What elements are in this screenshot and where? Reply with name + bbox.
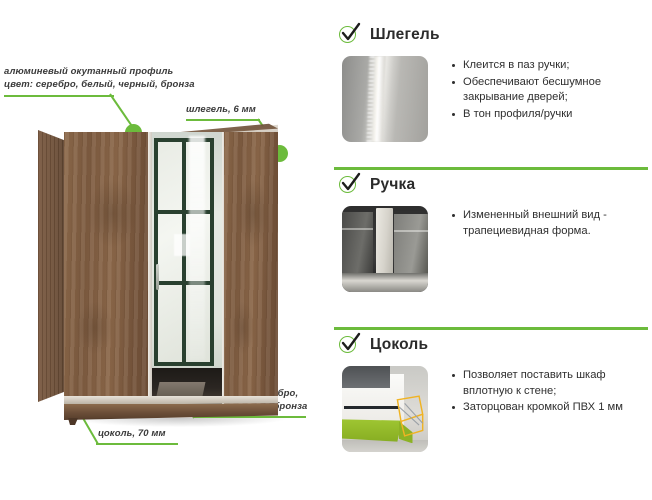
- handle-photo: [342, 206, 428, 292]
- mirror-rug-reflection: [157, 382, 206, 396]
- wardrobe-door-right: [224, 132, 278, 404]
- feature-title-ruchka: Ручка: [370, 176, 415, 194]
- check-circle-icon: [338, 24, 360, 46]
- annotation-plinth: цоколь, 70 мм: [98, 428, 166, 441]
- wardrobe-door-gap-left: [148, 132, 152, 404]
- feature-section-ruchka: Ручка Измененный внешний вид - трапециев…: [330, 172, 652, 322]
- plinth-callout-outline: [392, 392, 428, 442]
- shlegel-brush-strip: [370, 56, 386, 142]
- feature-body-ruchka: Измененный внешний вид - трапециевидная …: [330, 206, 652, 292]
- check-circle-icon: [338, 334, 360, 356]
- feature-bullets-shlegel: Клеится в паз ручки; Обеспечивают бесшум…: [450, 56, 652, 142]
- wardrobe-door-left: [64, 132, 152, 404]
- feature-bullets-tsokol: Позволяет поставить шкаф вплотную к стен…: [450, 366, 652, 452]
- feature-body-tsokol: Позволяет поставить шкаф вплотную к стен…: [330, 366, 652, 452]
- annotation-shlegel-line1: шлегель, 6 мм: [186, 104, 256, 117]
- feature-section-tsokol: Цоколь: [330, 332, 652, 482]
- annotation-profile-line1: алюминевый окутанный профиль: [4, 66, 195, 79]
- plinth-photo: [342, 366, 428, 452]
- feature-body-shlegel: Клеится в паз ручки; Обеспечивают бесшум…: [330, 56, 652, 142]
- feature-title-tsokol: Цоколь: [370, 336, 428, 354]
- feature-header-tsokol: Цоколь: [330, 332, 652, 358]
- wardrobe-front: [64, 132, 278, 404]
- wardrobe-mirror-door: [152, 132, 224, 404]
- annotation-profile-rule: [4, 95, 114, 97]
- feature-list-column: Шлегель Клеится в паз ручки; Обеспечиваю…: [330, 0, 652, 500]
- section-divider-2: [334, 327, 648, 330]
- annotation-shlegel: шлегель, 6 мм: [186, 104, 256, 117]
- list-item: Измененный внешний вид - трапециевидная …: [463, 208, 652, 239]
- infographic-page: алюминевый окутанный профиль цвет: сереб…: [0, 0, 652, 500]
- mirror-reflection-box: [174, 234, 190, 256]
- wardrobe-illustration-column: алюминевый окутанный профиль цвет: сереб…: [0, 0, 330, 500]
- mirror-gloss-highlight: [189, 136, 205, 360]
- wardrobe-graphic: [38, 118, 283, 418]
- shlegel-photo: [342, 56, 428, 142]
- feature-header-ruchka: Ручка: [330, 172, 652, 198]
- list-item: В тон профиля/ручки: [463, 107, 652, 123]
- handle-profile-shape: [376, 208, 393, 280]
- annotation-plinth-line1: цоколь, 70 мм: [98, 428, 166, 441]
- feature-title-shlegel: Шлегель: [370, 26, 440, 44]
- list-item: Заторцован кромкой ПВХ 1 мм: [463, 400, 652, 416]
- feature-section-shlegel: Шлегель Клеится в паз ручки; Обеспечиваю…: [330, 22, 652, 162]
- feature-bullets-ruchka: Измененный внешний вид - трапециевидная …: [450, 206, 652, 292]
- annotation-profile-line2: цвет: серебро, белый, черный, бронза: [4, 79, 195, 92]
- list-item: Клеится в паз ручки;: [463, 58, 652, 74]
- list-item: Позволяет поставить шкаф вплотную к стен…: [463, 368, 652, 399]
- wardrobe-left-side: [38, 130, 66, 402]
- wardrobe-shadow: [72, 418, 286, 427]
- section-divider-1: [334, 167, 648, 170]
- annotation-profile: алюминевый окутанный профиль цвет: сереб…: [4, 66, 195, 91]
- list-item: Обеспечивают бесшумное закрывание дверей…: [463, 75, 652, 106]
- feature-header-shlegel: Шлегель: [330, 22, 652, 48]
- check-circle-icon: [338, 174, 360, 196]
- annotation-plinth-rule: [96, 443, 178, 445]
- mirror-door-handle: [156, 264, 159, 290]
